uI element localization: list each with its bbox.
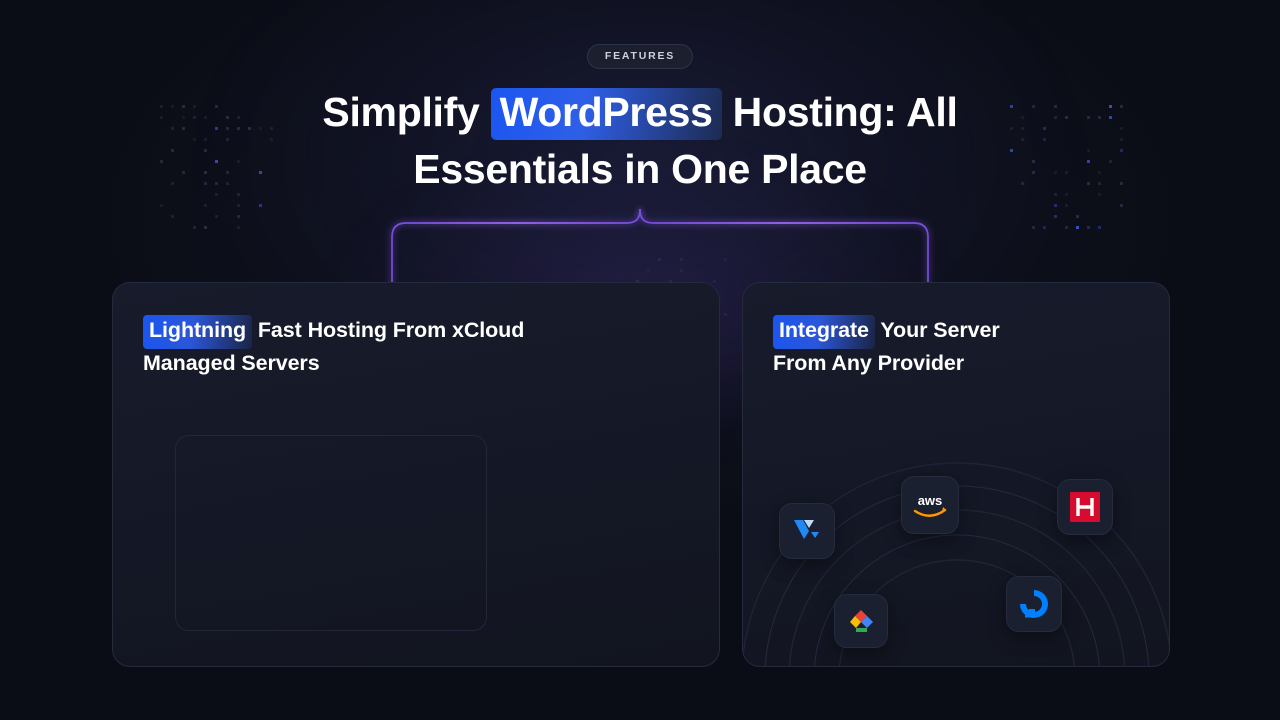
provider-tile-vultr[interactable] (779, 503, 835, 559)
provider-tile-aws[interactable]: aws (901, 476, 959, 534)
provider-tile-hetzner[interactable] (1057, 479, 1113, 535)
hetzner-logo (1070, 492, 1100, 522)
card-title-line2: From Any Provider (773, 349, 1145, 379)
feature-card-any-provider[interactable]: Integrate Your Server From Any Provider … (742, 282, 1170, 667)
features-badge: FEATURES (587, 44, 693, 69)
headline-line1-suffix: Hosting: All (722, 89, 958, 135)
feature-card-managed-servers[interactable]: Lightning Fast Hosting From xCloud Manag… (112, 282, 720, 667)
card-title-any-provider: Integrate Your Server From Any Provider (773, 315, 1145, 378)
headline-highlight-wordpress: WordPress (491, 88, 722, 140)
card-title-highlight: Integrate (773, 315, 875, 349)
headline-line1-prefix: Simplify (322, 89, 490, 135)
google-cloud-logo (845, 607, 877, 635)
digitalocean-logo (1018, 588, 1050, 620)
features-badge-label: FEATURES (605, 50, 675, 62)
illustration-frame (175, 435, 487, 631)
card-title-rest: Your Server (875, 318, 1000, 342)
provider-tile-digitalocean[interactable] (1006, 576, 1062, 632)
aws-logo: aws (910, 490, 950, 520)
svg-text:aws: aws (918, 493, 943, 508)
headline-line2: Essentials in One Place (0, 147, 1280, 192)
provider-tile-google-cloud[interactable] (834, 594, 888, 648)
page-title: Simplify WordPress Hosting: All Essentia… (0, 88, 1280, 192)
vultr-logo (792, 517, 822, 545)
managed-servers-illustration: W (113, 283, 719, 666)
